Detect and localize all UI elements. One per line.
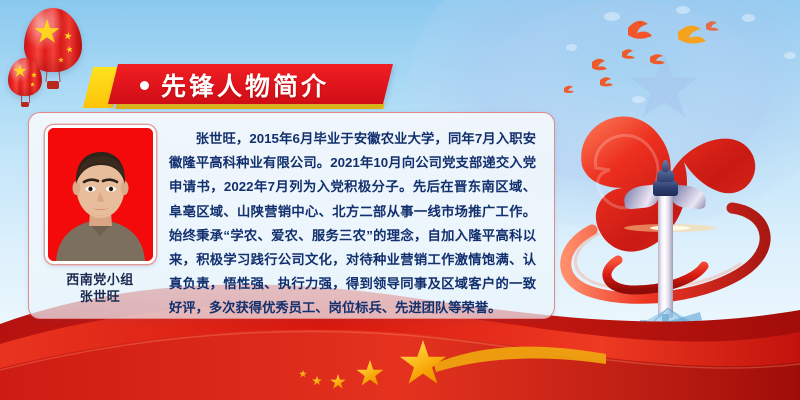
profile-photo-card: 西南党小组 张世旺 xyxy=(45,125,155,318)
balloon-star-small xyxy=(31,72,37,78)
page-title: 先锋人物简介 xyxy=(161,67,329,103)
balloon-envelope xyxy=(8,58,42,96)
gold-sash xyxy=(430,338,610,378)
profile-caption: 西南党小组 张世旺 xyxy=(66,271,134,305)
portrait-photo xyxy=(48,128,153,261)
huabiao-finial xyxy=(662,160,669,172)
balloon-star-large xyxy=(34,19,60,45)
dot-bullet-icon xyxy=(140,81,149,90)
profile-group-label: 西南党小组 xyxy=(66,271,134,288)
profile-name: 张世旺 xyxy=(66,288,134,305)
balloon-star-small xyxy=(30,82,35,87)
poster-canvas: 先锋人物简介 xyxy=(0,0,800,400)
portrait-frame xyxy=(45,125,156,264)
balloon-star-large xyxy=(13,64,27,78)
small-balloon xyxy=(8,58,42,110)
balloon-rope xyxy=(29,95,30,103)
balloon-basket xyxy=(47,81,59,89)
balloon-star-small xyxy=(65,45,73,53)
profile-biography: 张世旺，2015年6月毕业于安徽农业大学，同年7月入职安徽隆平高科种业有限公司。… xyxy=(169,127,536,308)
profile-panel: 西南党小组 张世旺 张世旺，2015年6月毕业于安徽农业大学，同年7月入职安徽隆… xyxy=(28,112,555,319)
balloon-basket xyxy=(21,102,29,107)
huabiao-cap xyxy=(653,180,678,196)
balloon-star-small xyxy=(63,31,72,40)
balloon-star-small xyxy=(58,57,64,63)
banner-label-group: 先锋人物简介 xyxy=(140,65,329,105)
